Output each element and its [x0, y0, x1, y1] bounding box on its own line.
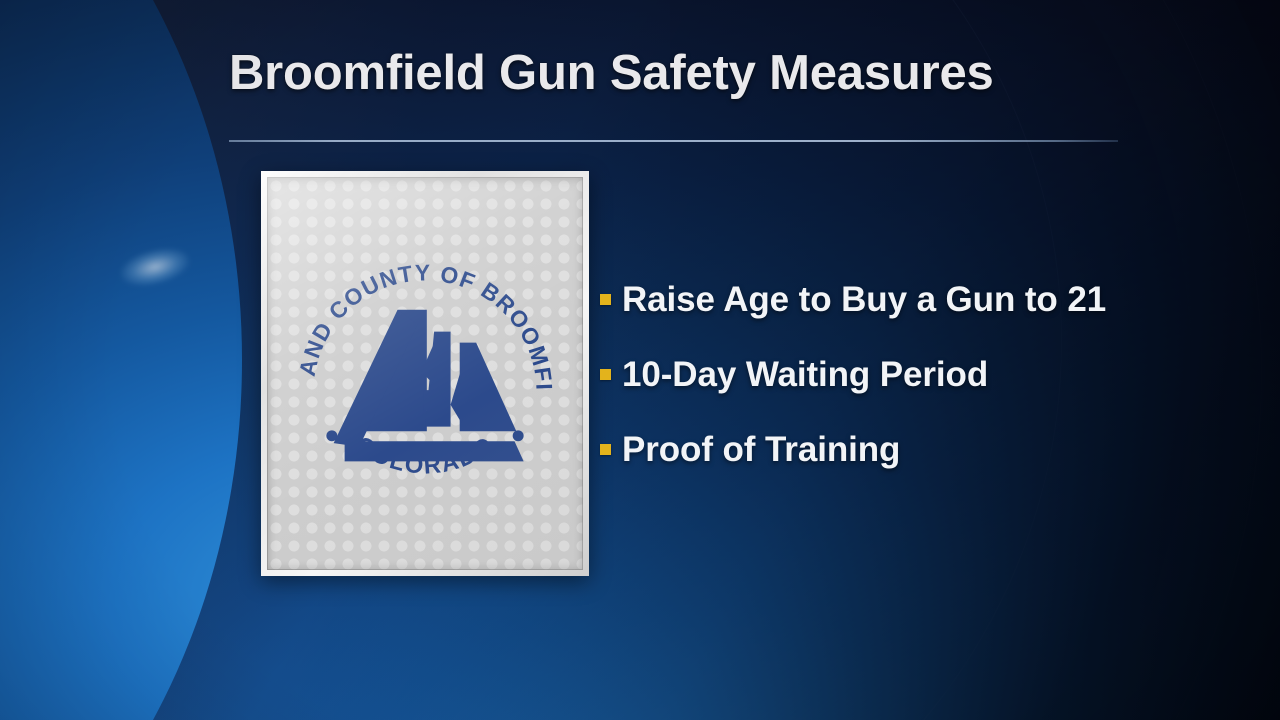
swoosh-navy-inner — [0, 0, 242, 720]
mountain-triangle-emblem — [334, 310, 524, 462]
seal-dot-right — [513, 431, 524, 442]
bullet-square-icon — [600, 369, 611, 380]
seal-card: CITY AND COUNTY OF BROOMFIELD COLORADO — [261, 171, 589, 576]
broadcast-graphic: Broomfield Gun Safety Measures CITY AND … — [0, 0, 1280, 720]
measures-list: Raise Age to Buy a Gun to 21 10-Day Wait… — [600, 262, 1200, 487]
title-divider — [229, 140, 1118, 142]
list-item: Raise Age to Buy a Gun to 21 — [600, 262, 1200, 337]
list-item: Proof of Training — [600, 412, 1200, 487]
list-item-label: 10-Day Waiting Period — [622, 355, 988, 395]
page-title: Broomfield Gun Safety Measures — [229, 45, 994, 101]
broomfield-city-seal: CITY AND COUNTY OF BROOMFIELD COLORADO — [288, 244, 562, 518]
bullet-square-icon — [600, 294, 611, 305]
bullet-square-icon — [600, 444, 611, 455]
seal-card-inner: CITY AND COUNTY OF BROOMFIELD COLORADO — [267, 177, 583, 570]
list-item: 10-Day Waiting Period — [600, 337, 1200, 412]
list-item-label: Raise Age to Buy a Gun to 21 — [622, 280, 1106, 320]
list-item-label: Proof of Training — [622, 430, 900, 470]
